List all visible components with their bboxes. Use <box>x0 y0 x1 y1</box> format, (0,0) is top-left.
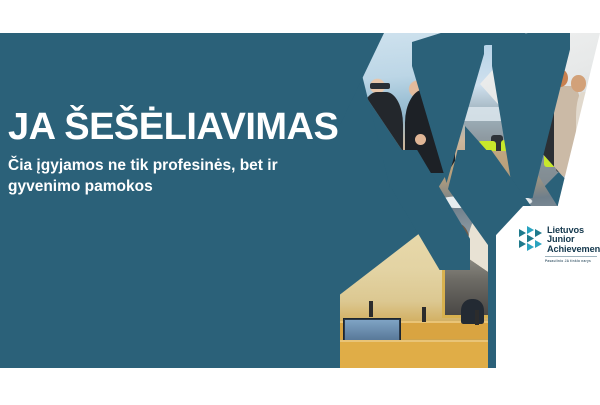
ja-logo[interactable]: Lietuvos Junior Achievement <box>519 226 600 254</box>
logo-tagline: Pasaulinio JA tinklo narys <box>545 259 591 263</box>
poster-canvas: JA ŠEŠĖLIAVIMAS Čia įgyjamos ne tik prof… <box>0 0 600 405</box>
headline-block: JA ŠEŠĖLIAVIMAS Čia įgyjamos ne tik prof… <box>8 108 338 198</box>
logo-line-3: Achievement <box>547 245 600 254</box>
teal-left-field <box>0 33 340 368</box>
page-title: JA ŠEŠĖLIAVIMAS <box>8 108 338 146</box>
page-subtitle: Čia įgyjamos ne tik profesinės, bet ir g… <box>8 156 308 198</box>
logo-divider <box>545 256 597 257</box>
ja-triangles-mark <box>519 226 543 252</box>
